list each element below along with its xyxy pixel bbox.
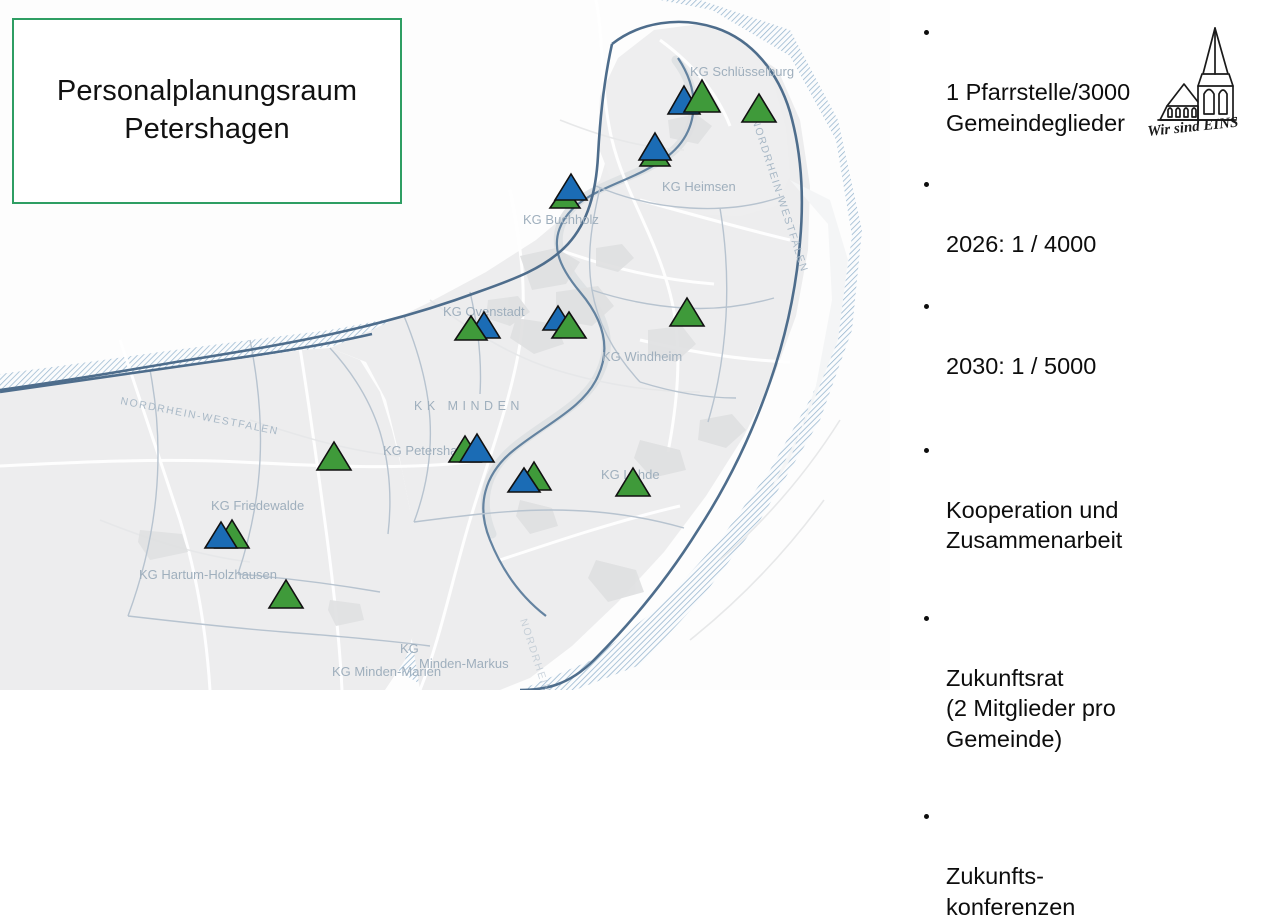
bullet-dot-icon xyxy=(924,448,929,453)
church-logo: Wir sind EINS xyxy=(1140,12,1268,142)
map-label: KG Windheim xyxy=(602,349,682,364)
list-item-label: Kooperation und Zusammenarbeit xyxy=(946,497,1122,554)
list-item: Kooperation und Zusammenarbeit xyxy=(908,433,1238,555)
list-item-label: Zukunfts- konferenzen xyxy=(946,863,1075,920)
bullet-dot-icon xyxy=(924,182,929,187)
map-label: KG Schlüsselburg xyxy=(690,64,794,79)
church-icon: Wir sind EINS xyxy=(1140,12,1268,142)
bullet-dot-icon xyxy=(924,304,929,309)
map-label: KG Friedewalde xyxy=(211,498,304,513)
bullet-dot-icon xyxy=(924,30,929,35)
list-item-label: 2026: 1 / 4000 xyxy=(946,231,1096,257)
map-label: KG xyxy=(400,641,419,656)
map-label: KG Buchholz xyxy=(523,212,599,227)
list-item: 2026: 1 / 4000 xyxy=(908,168,1238,260)
list-item: Zukunftsrat (2 Mitglieder pro Gemeinde) xyxy=(908,602,1238,755)
map-label: KG Heimsen xyxy=(662,179,736,194)
list-item: Zukunfts- konferenzen xyxy=(908,800,1238,922)
bullet-dot-icon xyxy=(924,814,929,819)
map-label: KG Hartum-Holzhausen xyxy=(139,567,277,582)
right-panel: 1 Pfarrstelle/3000 Gemeindeglieder 2026:… xyxy=(898,0,1280,720)
list-item-label: 1 Pfarrstelle/3000 Gemeindeglieder xyxy=(946,79,1130,136)
page-title: Personalplanungsraum Petershagen xyxy=(14,73,400,148)
slide-root: KG Schlüsselburg KG Heimsen KG Buchholz … xyxy=(0,0,1280,720)
map-label: Minden-Markus xyxy=(419,656,509,671)
list-item: 2030: 1 / 5000 xyxy=(908,290,1238,382)
map-label: KK MINDEN xyxy=(414,399,524,413)
title-box: Personalplanungsraum Petershagen xyxy=(12,18,402,204)
bullet-list: 1 Pfarrstelle/3000 Gemeindeglieder 2026:… xyxy=(908,16,1238,923)
list-item-label: 2030: 1 / 5000 xyxy=(946,353,1096,379)
list-item-label: Zukunftsrat (2 Mitglieder pro Gemeinde) xyxy=(946,665,1116,752)
bullet-dot-icon xyxy=(924,616,929,621)
